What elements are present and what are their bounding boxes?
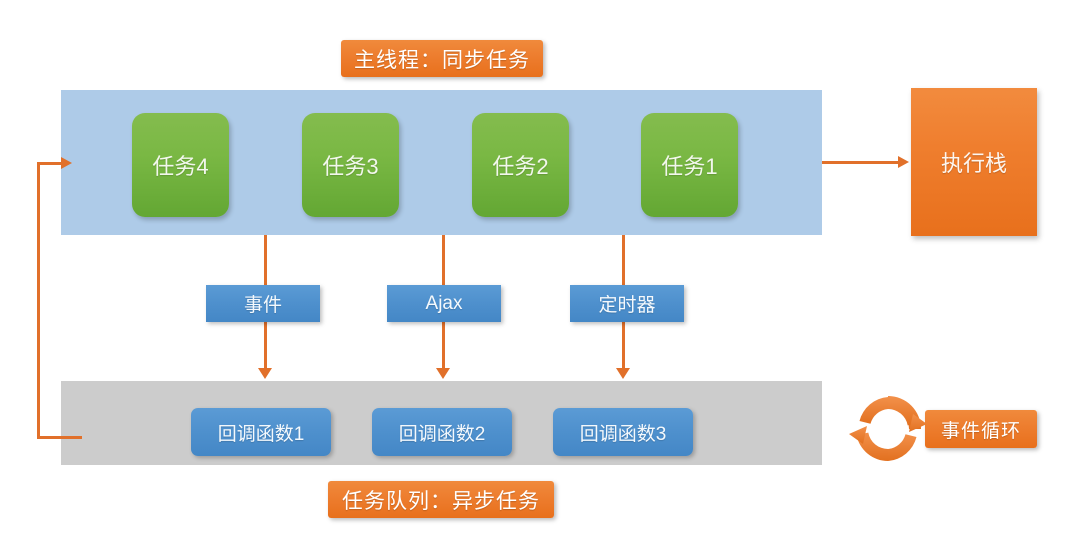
callback-box-1[interactable]: 回调函数1 — [191, 408, 331, 456]
task-box-4[interactable]: 任务4 — [132, 113, 229, 217]
arrowhead-timer-to-queue — [616, 368, 630, 379]
connector-task-to-ajax — [442, 235, 445, 285]
arrowhead-event-to-queue — [258, 368, 272, 379]
callback-box-2[interactable]: 回调函数2 — [372, 408, 512, 456]
diagram-canvas: 主线程：同步任务 任务队列：异步任务 任务4 任务3 任务2 任务1 执行栈 事… — [0, 0, 1080, 551]
task-box-3[interactable]: 任务3 — [302, 113, 399, 217]
connector-event-to-queue — [264, 322, 267, 370]
source-box-timer[interactable]: 定时器 — [570, 285, 684, 322]
connector-loop-top — [37, 162, 63, 165]
circular-refresh-icon — [849, 390, 927, 468]
source-box-event[interactable]: 事件 — [206, 285, 320, 322]
task-queue-label: 任务队列：异步任务 — [328, 481, 554, 518]
event-loop-label: 事件循环 — [925, 410, 1037, 448]
connector-timer-to-queue — [622, 322, 625, 370]
task-box-2[interactable]: 任务2 — [472, 113, 569, 217]
main-thread-label: 主线程：同步任务 — [341, 40, 543, 77]
connector-main-to-stack — [822, 161, 900, 164]
arrowhead-to-stack — [898, 156, 909, 168]
connector-loop-left — [37, 162, 40, 439]
task-box-1[interactable]: 任务1 — [641, 113, 738, 217]
connector-task-to-timer — [622, 235, 625, 285]
connector-loop-bottom — [37, 436, 82, 439]
execution-stack-box[interactable]: 执行栈 — [911, 88, 1037, 236]
connector-ajax-to-queue — [442, 322, 445, 370]
source-box-ajax[interactable]: Ajax — [387, 285, 501, 322]
arrowhead-loop-to-main — [61, 157, 72, 169]
callback-box-3[interactable]: 回调函数3 — [553, 408, 693, 456]
connector-task-to-event — [264, 235, 267, 285]
arrowhead-ajax-to-queue — [436, 368, 450, 379]
